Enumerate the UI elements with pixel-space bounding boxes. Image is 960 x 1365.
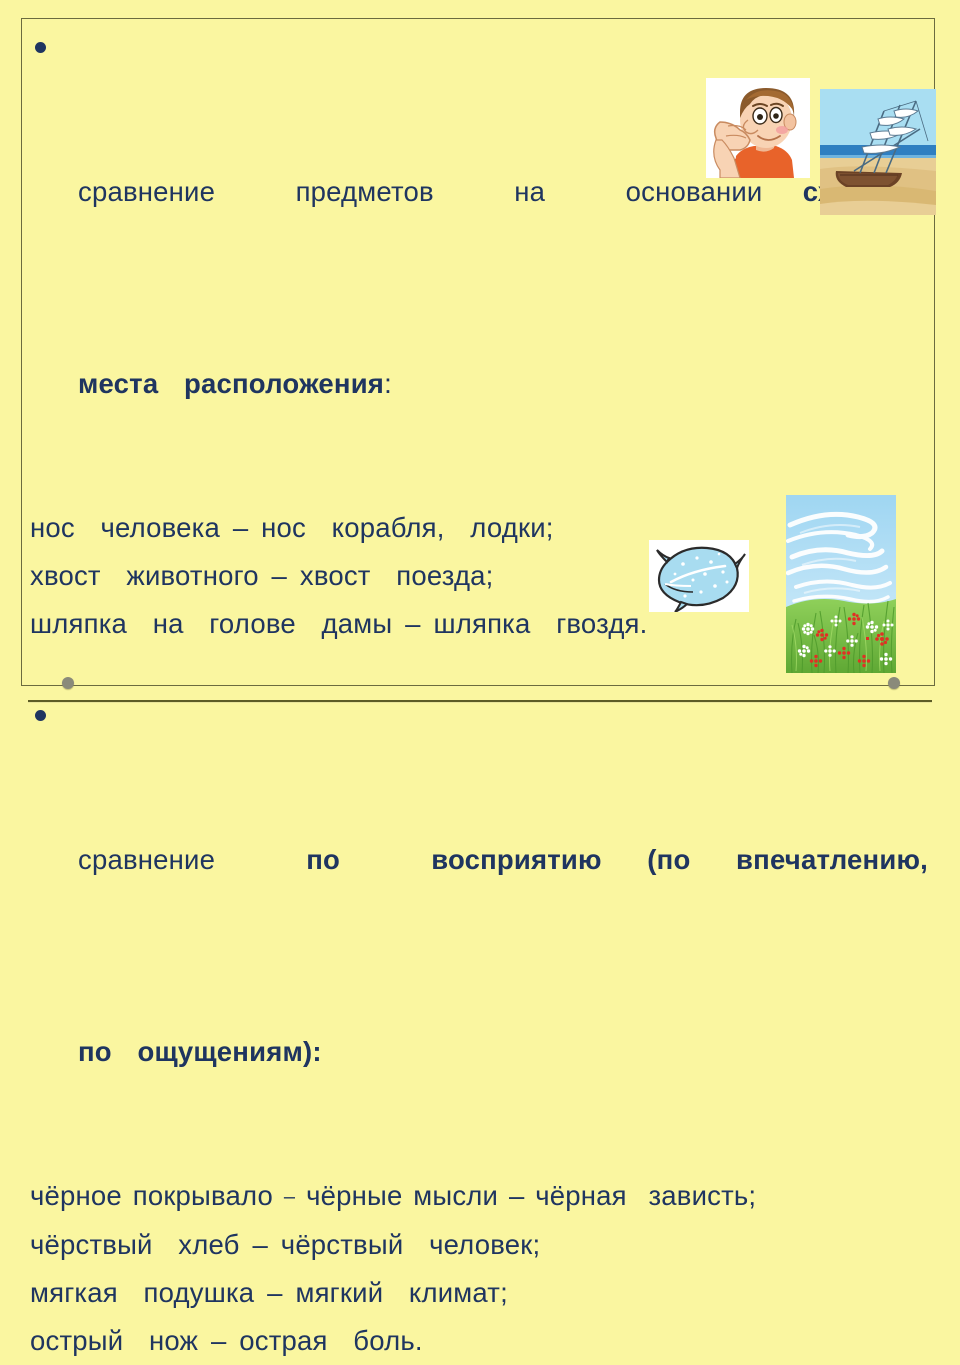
decor-dot-left [62, 677, 74, 689]
bottom-rule [28, 700, 932, 703]
en-dash-glyph: – [284, 1186, 295, 1208]
text-line-black-part2: чёрные мысли – чёрная зависть; [295, 1180, 756, 1211]
image-boy-holding-nose [706, 78, 810, 178]
slide-text-content: сравнение предметов на основании сходств… [30, 24, 928, 1365]
bullet-dot-icon [35, 710, 46, 721]
bullet-2-line-2-bold: по ощущениям) [78, 1036, 312, 1067]
decor-dot-right [888, 677, 900, 689]
bullet-item-2: сравнение по восприятию (по впечатлению,… [30, 692, 928, 1172]
bullet-2-line-1: сравнение по восприятию (по впечатлению, [78, 836, 928, 932]
text-line-stale: чёрствый хлеб – чёрствый человек; [30, 1221, 928, 1269]
bullet-2-line-2-tail: : [312, 1036, 321, 1067]
text-line-soft: мягкая подушка – мягкий климат; [30, 1269, 928, 1317]
image-sailing-ship [820, 89, 936, 215]
text-line-black-part1: чёрное покрывало [30, 1180, 284, 1211]
image-windy-meadow [786, 495, 896, 673]
image-soft-pillow [649, 540, 749, 612]
bullet-1-line-2-bold: места расположения [78, 368, 384, 399]
bullet-2-line-1-bold: по восприятию (по впечатлению, [306, 844, 928, 875]
bullet-dot-icon [35, 42, 46, 53]
bullet-2-line-2: по ощущениям): [78, 1028, 928, 1076]
bullet-2-line-1-normal: сравнение [78, 844, 306, 875]
bullet-1-line-1-normal: сравнение предметов на основании [78, 176, 803, 207]
text-line-black: чёрное покрывало – чёрные мысли – чёрная… [30, 1172, 928, 1221]
bullet-1-line-2-tail: : [384, 368, 392, 399]
slide: сравнение предметов на основании сходств… [0, 0, 960, 720]
bullet-1-line-1: сравнение предметов на основании сходств… [78, 168, 928, 264]
bullet-1-line-2: места расположения: [78, 360, 928, 408]
text-line-sharp: острый нож – острая боль. [30, 1317, 928, 1365]
